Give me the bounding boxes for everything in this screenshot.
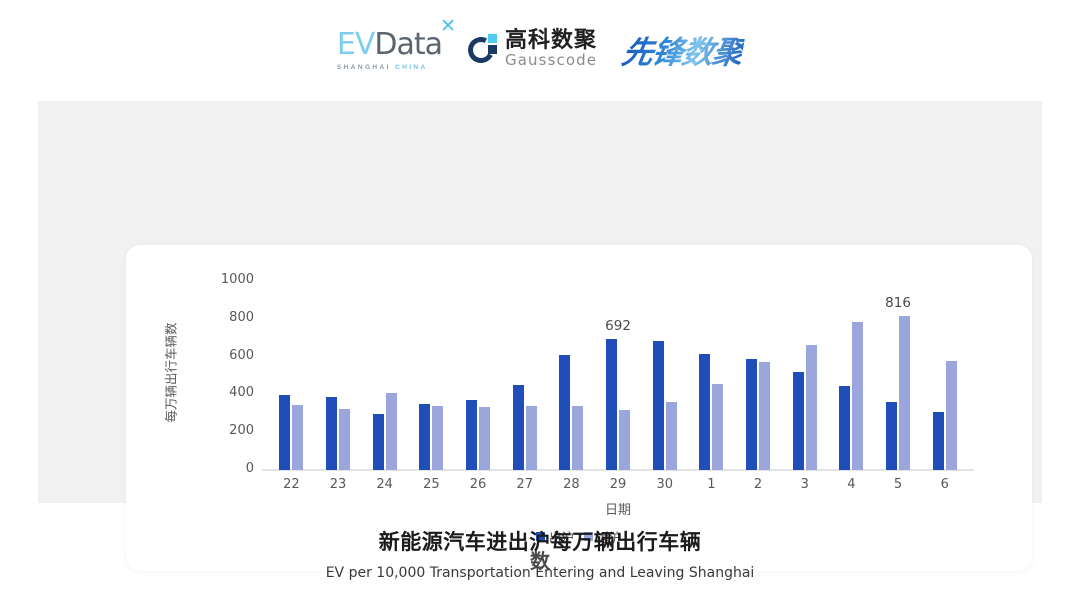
bar-group-5: 816 (875, 281, 922, 470)
x-tick-25: 25 (408, 477, 455, 492)
bar-group-26 (455, 281, 502, 470)
evdata-x-icon: ✕ (440, 15, 456, 37)
bar-group-30 (641, 281, 688, 470)
logo-gausscode: 高科数聚 Gausscode (468, 30, 597, 68)
slide-root: EV Data ✕ SHANGHAI CHINA 高科数聚 Gausscode … (0, 0, 1080, 608)
bar-26-return (479, 407, 490, 470)
gausscode-en-text: Gausscode (505, 53, 597, 68)
bar-1-out (699, 354, 710, 470)
x-tick-27: 27 (501, 477, 548, 492)
bar-23-out (326, 397, 337, 470)
evdata-subtitle: SHANGHAI CHINA (337, 64, 428, 71)
bar-6-return (946, 361, 957, 470)
bar-1-return (712, 384, 723, 470)
bar-3-out (793, 372, 804, 470)
y-axis-ticks: 10008006004002000 (208, 245, 254, 571)
gausscode-wordmark: 高科数聚 Gausscode (505, 30, 597, 68)
bar-2-out (746, 359, 757, 471)
gausscode-square-cyan-icon (488, 34, 497, 43)
bar-30-out (653, 341, 664, 470)
caption-block: 新能源汽车进出沪每万辆出行车辆 数 EV per 10,000 Transpor… (0, 526, 1080, 581)
bar-group-1 (688, 281, 735, 470)
evdata-data-text: Data (374, 27, 442, 62)
bar-group-23 (315, 281, 362, 470)
x-tick-28: 28 (548, 477, 595, 492)
bar-chart: 每万辆出行车辆数 10008006004002000 692816 222324… (126, 245, 1032, 571)
bar-group-6 (921, 281, 968, 470)
logo-xianfeng: 先锋数聚 (623, 27, 743, 72)
bar-6-out (933, 412, 944, 470)
chart-card: 每万辆出行车辆数 10008006004002000 692816 222324… (126, 245, 1032, 571)
logo-bar: EV Data ✕ SHANGHAI CHINA 高科数聚 Gausscode … (0, 18, 1080, 80)
bar-2-return (759, 362, 770, 470)
y-tick-200: 200 (208, 423, 254, 438)
y-tick-1000: 1000 (208, 272, 254, 287)
bar-22-out (279, 395, 290, 470)
x-tick-29: 29 (595, 477, 642, 492)
evdata-subtitle-shanghai: SHANGHAI (337, 64, 395, 71)
x-tick-5: 5 (875, 477, 922, 492)
caption-title-cn: 新能源汽车进出沪每万辆出行车辆 (0, 526, 1080, 556)
x-tick-1: 1 (688, 477, 735, 492)
bar-22-return (292, 405, 303, 470)
bar-28-out (559, 355, 570, 470)
bar-4-return (852, 322, 863, 470)
y-tick-400: 400 (208, 385, 254, 400)
x-tick-2: 2 (735, 477, 782, 492)
x-tick-6: 6 (921, 477, 968, 492)
bar-27-return (526, 406, 537, 470)
plot-area: 692816 (268, 281, 968, 470)
bar-26-out (466, 400, 477, 470)
bar-25-return (432, 406, 443, 470)
x-tick-22: 22 (268, 477, 315, 492)
bar-value-label-29: 692 (605, 318, 631, 334)
bar-group-28 (548, 281, 595, 470)
bar-value-label-5: 816 (885, 295, 911, 311)
x-tick-23: 23 (315, 477, 362, 492)
bar-group-29: 692 (595, 281, 642, 470)
bar-30-return (666, 402, 677, 470)
x-axis-title: 日期 (268, 499, 968, 518)
bar-29-return (619, 410, 630, 470)
bar-groups: 692816 (268, 281, 968, 470)
bar-28-return (572, 406, 583, 470)
bar-group-25 (408, 281, 455, 470)
bar-group-3 (781, 281, 828, 470)
chart-panel-background: 每万辆出行车辆数 10008006004002000 692816 222324… (38, 101, 1042, 503)
bar-5-out (886, 402, 897, 470)
bar-3-return (806, 345, 817, 470)
bar-27-out (513, 385, 524, 470)
bar-23-return (339, 409, 350, 470)
gausscode-cn-text: 高科数聚 (505, 30, 597, 52)
evdata-subtitle-china: CHINA (395, 64, 428, 71)
x-tick-30: 30 (641, 477, 688, 492)
y-tick-0: 0 (208, 461, 254, 476)
y-tick-800: 800 (208, 310, 254, 325)
xianfeng-cn-text: 先锋数聚 (619, 27, 747, 72)
bar-group-24 (361, 281, 408, 470)
bar-group-22 (268, 281, 315, 470)
gausscode-square-navy-icon (488, 45, 497, 54)
bar-25-out (419, 404, 430, 470)
bar-group-4 (828, 281, 875, 470)
y-axis-title: 每万辆出行车辆数 (161, 293, 180, 453)
bar-group-27 (501, 281, 548, 470)
gausscode-mark-icon (468, 34, 498, 64)
bar-4-out (839, 386, 850, 470)
bar-29-out (606, 339, 617, 470)
x-tick-26: 26 (455, 477, 502, 492)
bar-5-return (899, 316, 910, 470)
x-tick-4: 4 (828, 477, 875, 492)
x-axis-ticks: 222324252627282930123456 (268, 477, 968, 492)
logo-evdata: EV Data ✕ SHANGHAI CHINA (337, 27, 442, 71)
bar-group-2 (735, 281, 782, 470)
evdata-wordmark: EV Data ✕ (337, 27, 442, 62)
caption-subtitle-en: EV per 10,000 Transportation Entering an… (0, 565, 1080, 581)
y-tick-600: 600 (208, 348, 254, 363)
x-tick-3: 3 (781, 477, 828, 492)
evdata-ev-text: EV (337, 27, 374, 62)
x-tick-24: 24 (361, 477, 408, 492)
bar-24-out (373, 414, 384, 470)
bar-24-return (386, 393, 397, 470)
